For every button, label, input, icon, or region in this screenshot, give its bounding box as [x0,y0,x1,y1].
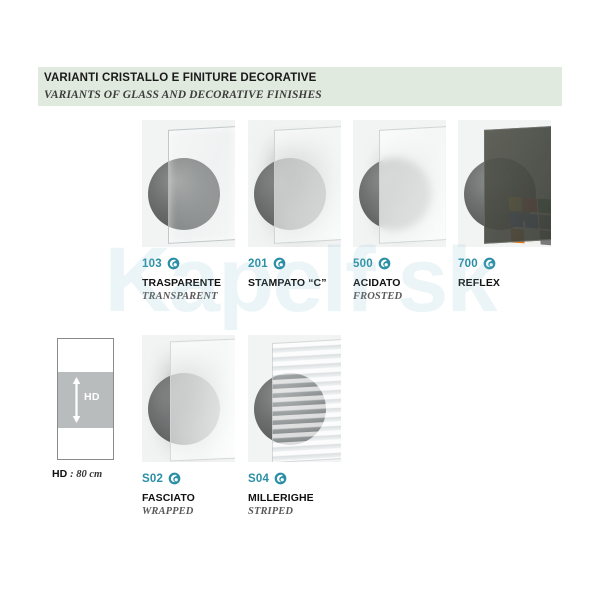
swatch-code: 500 [353,258,373,270]
glass-pane-printed [274,126,341,244]
swatch-s04[interactable]: S04 MILLERIGHE STRIPED [248,335,341,517]
finish-badge-icon [483,257,496,270]
finish-badge-icon [273,257,286,270]
swatch-photo-reflex [458,120,551,247]
finish-badge-icon [274,472,287,485]
glass-pane-striped [272,339,341,462]
double-arrow-vertical-icon [71,375,82,425]
swatch-photo-frosted [353,120,446,247]
hd-caption-label: HD [52,468,67,480]
swatch-code: 201 [248,258,268,270]
code-row: S04 [248,471,341,486]
swatch-700[interactable]: 700 REFLEX [458,120,551,291]
page-title: VARIANTI CRISTALLO E FINITURE DECORATIVE [44,72,316,84]
swatch-photo-transparent [142,120,235,247]
glass-pane-wrapped [170,339,235,462]
swatch-name-it: MILLERIGHE [248,492,341,504]
swatch-s02[interactable]: S02 FASCIATO WRAPPED [142,335,235,517]
swatch-code: S04 [248,473,269,485]
swatch-photo-wrapped [142,335,235,462]
swatch-name-it: REFLEX [458,277,551,289]
glass-pane-reflex [484,126,551,244]
swatch-name-en: FROSTED [353,291,446,302]
code-row: S02 [142,471,235,486]
swatch-201[interactable]: 201 STAMPATO “C” [248,120,341,291]
finish-badge-icon [168,472,181,485]
glass-pane-frosted [379,126,446,244]
swatch-code: 103 [142,258,162,270]
swatch-name-it: TRASPARENTE [142,277,235,289]
code-row: 700 [458,256,551,271]
swatch-name-en: WRAPPED [142,506,235,517]
hd-caption: HD : 80 cm [52,468,102,480]
code-row: 201 [248,256,341,271]
hd-caption-value: : 80 cm [70,469,102,480]
swatch-name-en: STRIPED [248,506,341,517]
swatch-code: 700 [458,258,478,270]
hd-band-label: HD [84,391,100,403]
finish-badge-icon [378,257,391,270]
swatch-500[interactable]: 500 ACIDATO FROSTED [353,120,446,302]
page-subtitle: VARIANTS OF GLASS AND DECORATIVE FINISHE… [44,89,322,101]
swatch-name-it: ACIDATO [353,277,446,289]
swatch-photo-striped [248,335,341,462]
code-row: 103 [142,256,235,271]
swatch-code: S02 [142,473,163,485]
swatch-name-it: STAMPATO “C” [248,277,341,289]
hd-dimension-diagram: HD [57,338,114,460]
swatch-103[interactable]: 103 TRASPARENTE TRANSPARENT [142,120,235,302]
swatch-name-en: TRANSPARENT [142,291,235,302]
swatch-name-it: FASCIATO [142,492,235,504]
swatch-photo-printed [248,120,341,247]
code-row: 500 [353,256,446,271]
finish-badge-icon [167,257,180,270]
glass-pane-clear [168,126,235,244]
